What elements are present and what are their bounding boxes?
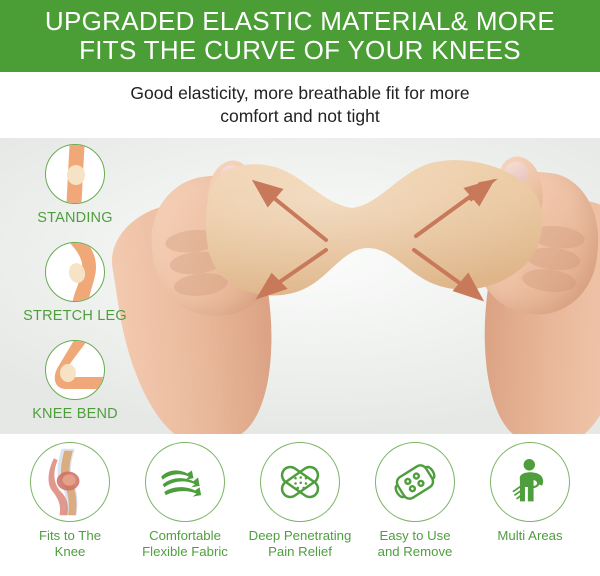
hands-and-patch-photo: [150, 138, 600, 434]
crossed-bandage-icon: [260, 442, 340, 522]
feature-label-line1: Comfortable: [129, 528, 241, 544]
subtitle-line1: Good elasticity, more breathable fit for…: [130, 82, 469, 105]
banner-headline-line2: FITS THE CURVE OF YOUR KNEES: [79, 36, 521, 65]
feature-label-line2: and Remove: [359, 544, 471, 560]
feature-label-line1: Multi Areas: [474, 528, 586, 544]
subtitle-block: Good elasticity, more breathable fit for…: [0, 72, 600, 138]
feature-label: Easy to Use and Remove: [359, 528, 471, 560]
stretch-arrows: [202, 154, 550, 326]
feature-label: Comfortable Flexible Fabric: [129, 528, 241, 560]
pose-label: STRETCH LEG: [0, 308, 150, 324]
pose-item-knee-bend: KNEE BEND: [0, 340, 150, 422]
product-infographic: UPGRADED ELASTIC MATERIAL& MORE FITS THE…: [0, 0, 600, 576]
feature-comfortable-flexible-fabric: Comfortable Flexible Fabric: [129, 442, 241, 560]
feature-label-line1: Deep Penetrating: [244, 528, 356, 544]
pose-icon-column: STANDING STRETCH LEG K: [0, 138, 150, 434]
feature-multi-areas: Multi Areas: [474, 442, 586, 544]
arrow-upper-right: [416, 182, 491, 236]
feature-label-line1: Fits to The: [14, 528, 126, 544]
subtitle-line2: comfort and not tight: [220, 105, 380, 128]
arrow-upper-left: [256, 183, 326, 240]
patch-dots-icon: [375, 442, 455, 522]
feature-label-line2: Pain Relief: [244, 544, 356, 560]
feature-label-line2: Knee: [14, 544, 126, 560]
arrow-lower-left: [260, 250, 326, 296]
knee-anatomy-icon: [30, 442, 110, 522]
straight-leg-icon: [45, 144, 105, 204]
bent-knee-icon: [45, 340, 105, 400]
feature-deep-penetrating-pain-relief: Deep Penetrating Pain Relief: [244, 442, 356, 560]
feature-label: Deep Penetrating Pain Relief: [244, 528, 356, 560]
pose-label: STANDING: [0, 210, 150, 226]
feature-label-line2: Flexible Fabric: [129, 544, 241, 560]
pose-label: KNEE BEND: [0, 406, 150, 422]
banner-headline-line1: UPGRADED ELASTIC MATERIAL& MORE: [45, 7, 555, 36]
back-pain-person-icon: [490, 442, 570, 522]
header-banner: UPGRADED ELASTIC MATERIAL& MORE FITS THE…: [0, 0, 600, 72]
feature-label-line1: Easy to Use: [359, 528, 471, 544]
feature-fits-to-the-knee: Fits to The Knee: [14, 442, 126, 560]
feature-label: Fits to The Knee: [14, 528, 126, 560]
feature-row: Fits to The Knee Comfortable Flexible Fa…: [0, 434, 600, 576]
feature-label: Multi Areas: [474, 528, 586, 544]
product-photo-section: STANDING STRETCH LEG K: [0, 138, 600, 434]
stretched-leg-icon: [45, 242, 105, 302]
airflow-arrows-icon: [145, 442, 225, 522]
arrow-lower-right: [414, 250, 480, 298]
feature-easy-to-use-and-remove: Easy to Use and Remove: [359, 442, 471, 560]
pose-item-stretch-leg: STRETCH LEG: [0, 242, 150, 324]
pose-item-standing: STANDING: [0, 144, 150, 226]
